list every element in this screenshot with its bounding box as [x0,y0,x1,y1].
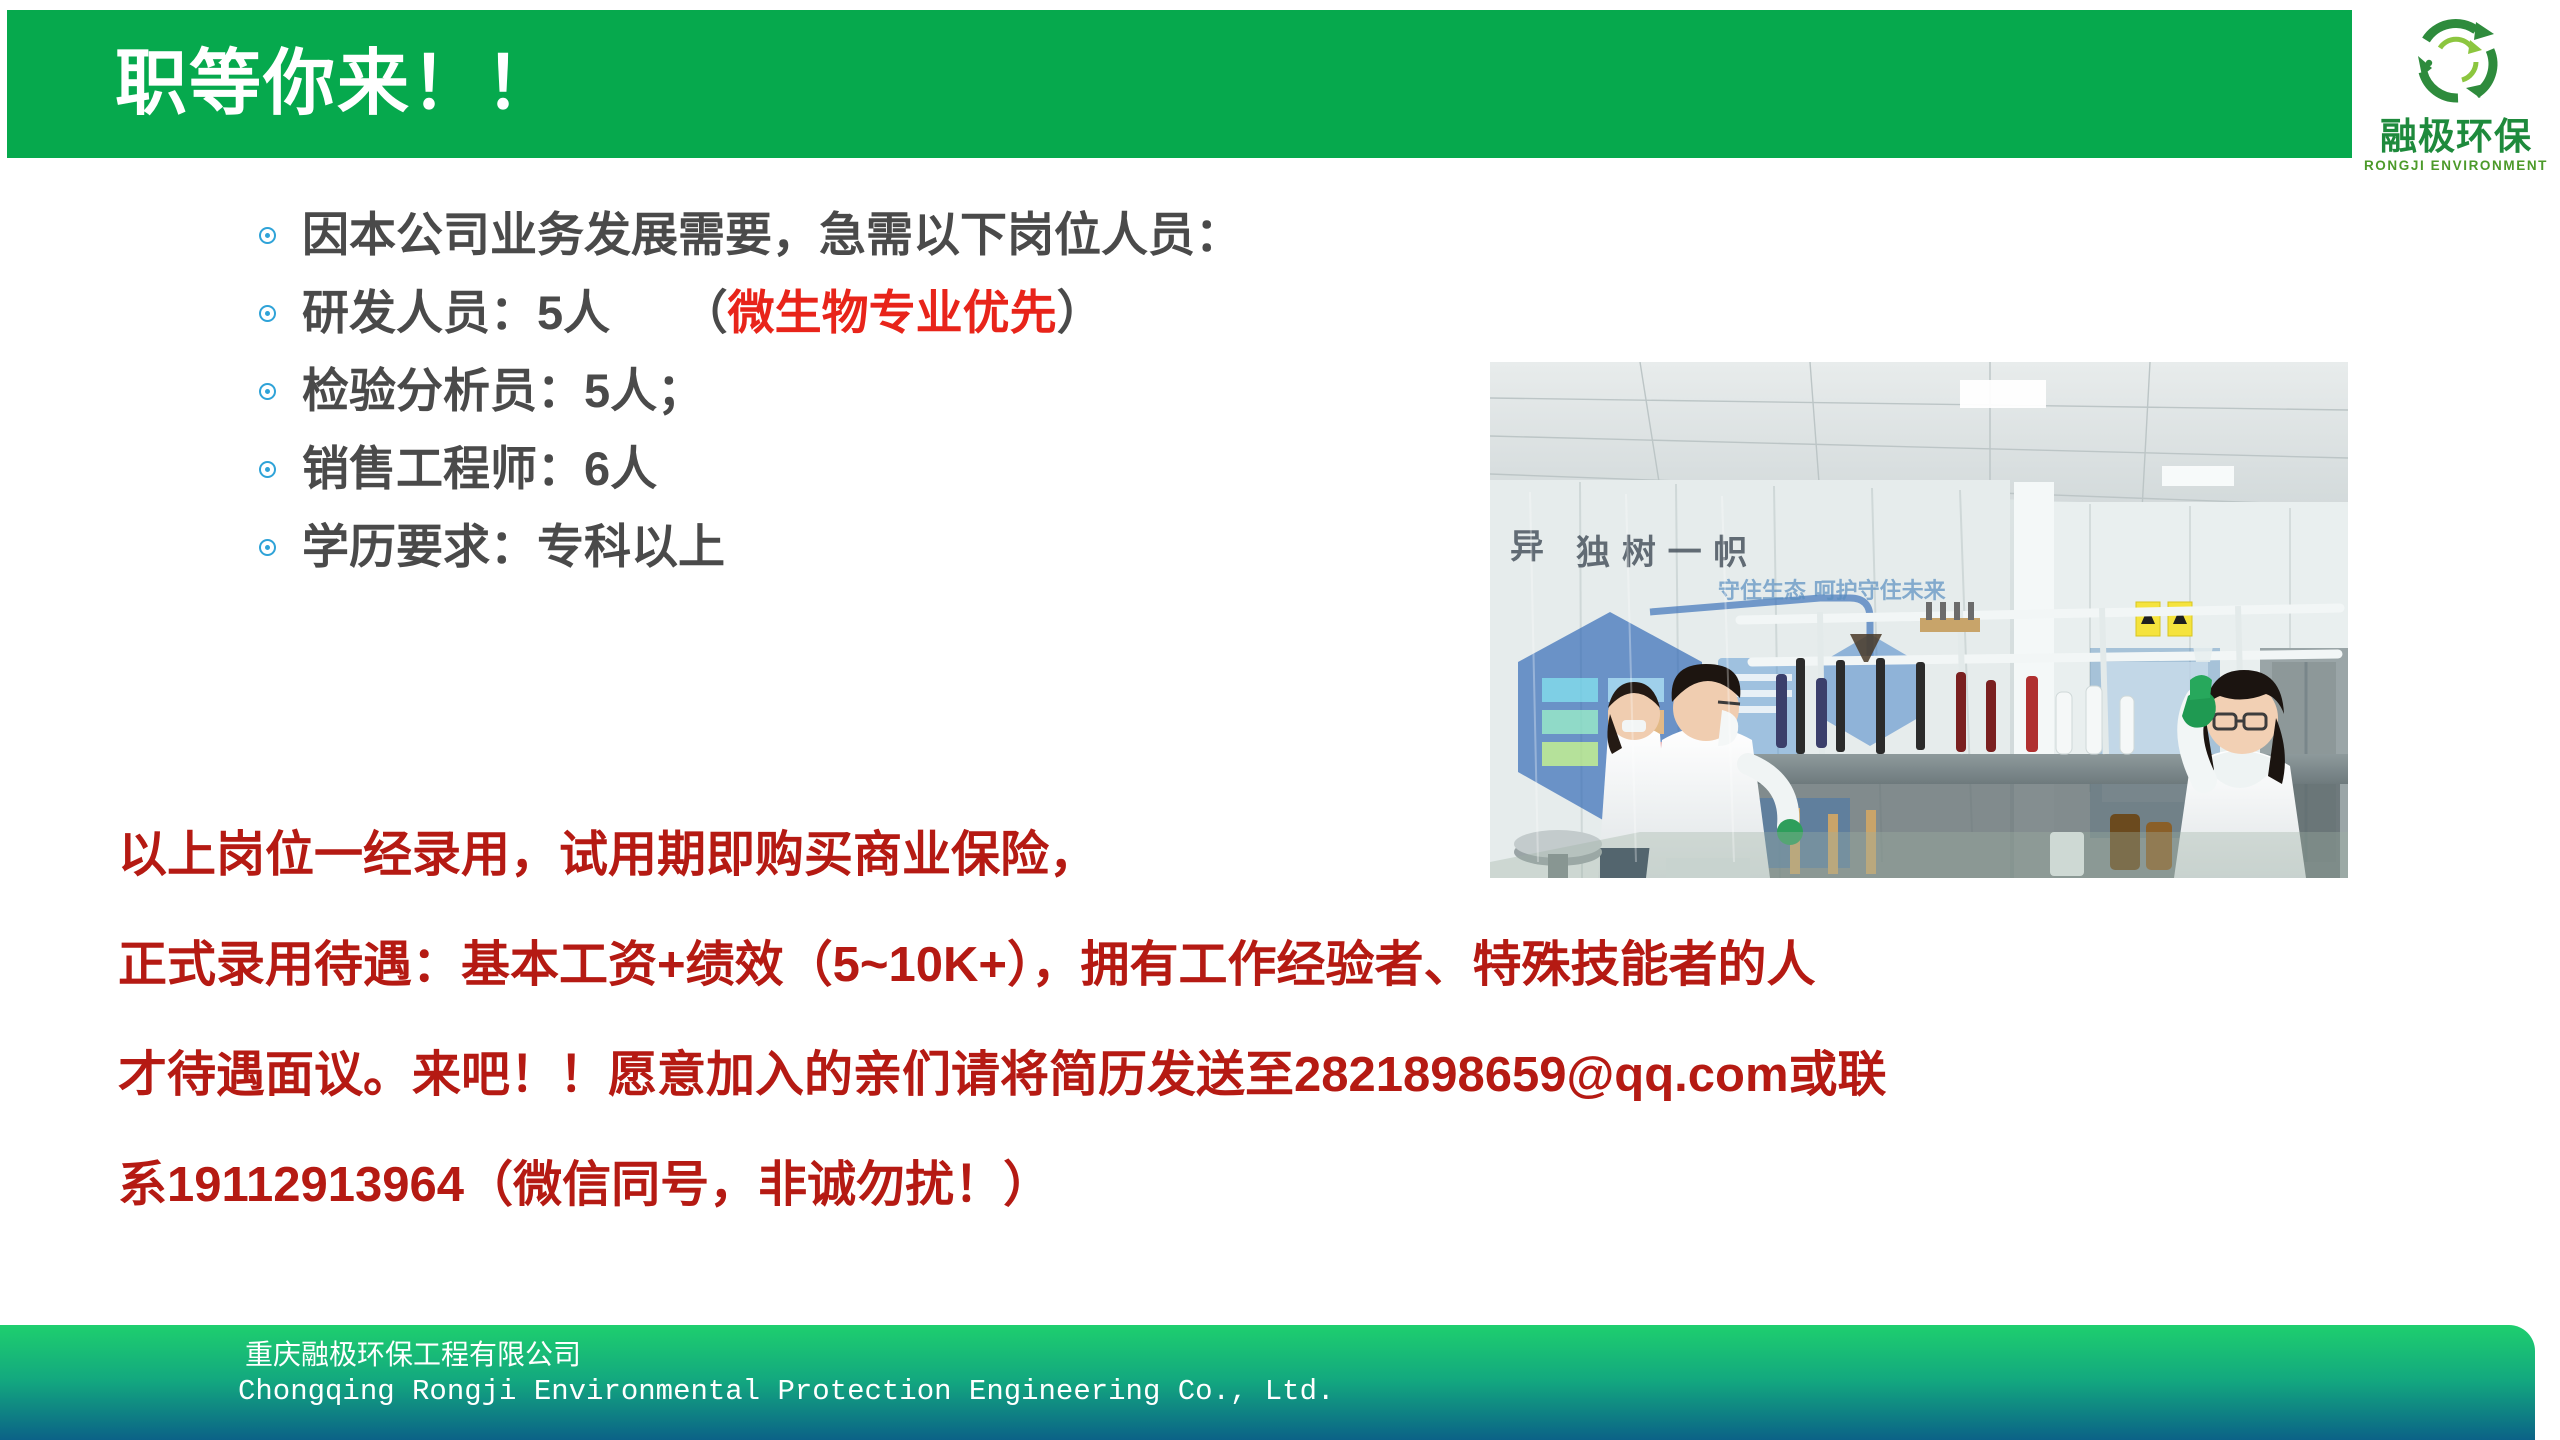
list-item-label: 研发人员：5人 （微生物专业优先） [302,274,1104,352]
ring-dot-bullet-icon [250,227,284,244]
footer-banner: 重庆融极环保工程有限公司 Chongqing Rongji Environmen… [0,1325,2535,1440]
svg-text:独 树 一 帜: 独 树 一 帜 [1576,533,1748,573]
priority-highlight: 微生物专业优先 [728,286,1057,339]
notice-line: 系19112913964（微信同号，非诚勿扰！） [118,1130,2448,1240]
logo-company-name-cn: 融极环保 [2380,116,2532,158]
recruitment-notice: 以上岗位一经录用，试用期即购买商业保险， 正式录用待遇：基本工资+绩效（5~10… [118,800,2448,1240]
ring-dot-bullet-icon [250,383,284,400]
ring-dot-bullet-icon [250,461,284,478]
list-item-label: 因本公司业务发展需要，急需以下岗位人员： [302,196,1242,274]
notice-line: 才待遇面议。来吧！！愿意加入的亲们请将简历发送至2821898659@qq.co… [118,1020,2448,1130]
ring-dot-bullet-icon [250,539,284,556]
notice-line: 正式录用待遇：基本工资+绩效（5~10K+），拥有工作经验者、特殊技能者的人 [118,910,2448,1020]
svg-text:异: 异 [1510,527,1544,567]
ring-dot-bullet-icon [250,305,284,322]
header-banner: 职等你来！！ [7,10,2352,158]
list-item: 学历要求：专科以上 [250,508,1510,586]
list-item-label: 检验分析员：5人； [302,352,704,430]
job-openings-list: 因本公司业务发展需要，急需以下岗位人员： 研发人员：5人 （微生物专业优先） 检… [250,196,1510,586]
company-logo: 融极环保 RONGJI ENVIRONMENT [2352,0,2560,200]
notice-line: 以上岗位一经录用，试用期即购买商业保险， [118,800,2448,910]
list-item: 检验分析员：5人； [250,352,1510,430]
list-item: 因本公司业务发展需要，急需以下岗位人员： [250,196,1510,274]
recycling-circle-icon [2404,10,2508,114]
logo-company-name-en: RONGJI ENVIRONMENT [2364,158,2548,174]
footer-company-name-en: Chongqing Rongji Environmental Protectio… [238,1373,1334,1411]
list-item-label: 销售工程师：6人 [302,430,657,508]
svg-text:守住生态 呵护守住未来: 守住生态 呵护守住未来 [1718,578,1947,604]
list-item-label: 学历要求：专科以上 [302,508,725,586]
list-item: 研发人员：5人 （微生物专业优先） [250,274,1510,352]
list-item: 销售工程师：6人 [250,430,1510,508]
page-title: 职等你来！！ [115,34,559,134]
footer-company-name-cn: 重庆融极环保工程有限公司 [245,1337,581,1373]
